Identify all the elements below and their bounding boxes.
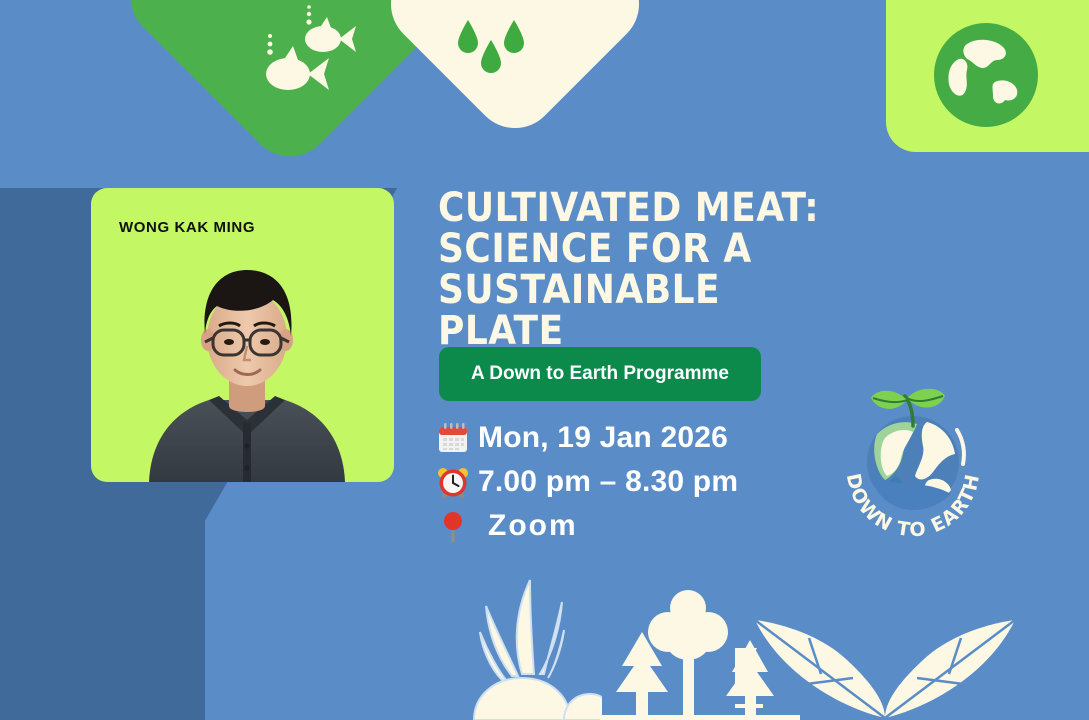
- detail-text-venue: Zoom: [488, 509, 578, 543]
- detail-text-time: 7.00 pm – 8.30 pm: [478, 465, 738, 499]
- speaker-name: WONG KAK MING: [119, 219, 255, 236]
- alarm-clock-icon: [436, 465, 470, 499]
- water-drop-icon: [452, 12, 532, 82]
- speaker-card: WONG KAK MING: [91, 188, 394, 482]
- earth-globe-icon: [933, 22, 1039, 128]
- event-poster: WONG KAK MING: [0, 0, 1089, 720]
- page-title: CULTIVATED MEAT: SCIENCE FOR A SUSTAINAB…: [438, 188, 858, 352]
- event-details: Mon, 19 Jan 2026 7.00 pm – 8.30 pm Zoom: [436, 416, 738, 548]
- programme-badge: A Down to Earth Programme: [439, 347, 761, 401]
- detail-text-date: Mon, 19 Jan 2026: [478, 421, 728, 455]
- logo-globe-icon: [867, 416, 964, 510]
- detail-row-time: 7.00 pm – 8.30 pm: [436, 460, 738, 504]
- detail-row-venue: Zoom: [436, 504, 738, 548]
- detail-row-date: Mon, 19 Jan 2026: [436, 416, 738, 460]
- speaker-photo: [147, 250, 347, 482]
- grass-icon: [452, 578, 602, 720]
- leaves-icon: [735, 578, 1035, 720]
- calendar-icon: [436, 421, 470, 455]
- location-pin-icon: [436, 509, 470, 543]
- fish-icon: [255, 4, 375, 104]
- speaker-card-shadow-fill: [0, 470, 205, 720]
- down-to-earth-logo: DOWN TO EARTH: [833, 384, 993, 544]
